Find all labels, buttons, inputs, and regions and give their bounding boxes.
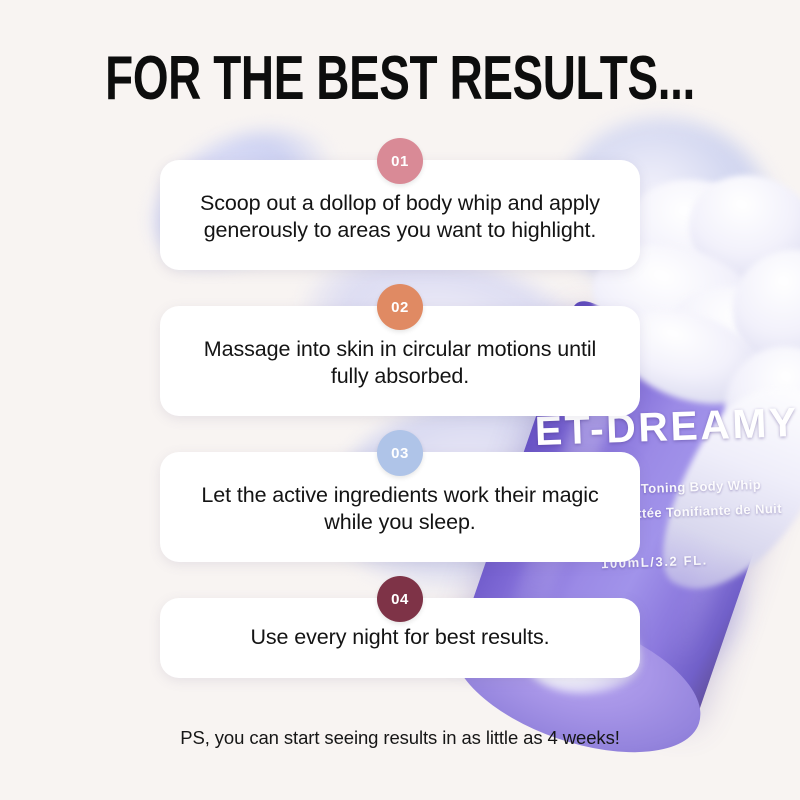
step-item: 02 Massage into skin in circular motions… [160, 306, 640, 416]
step-number-badge-03: 03 [377, 430, 423, 476]
step-item: 04 Use every night for best results. [160, 598, 640, 677]
step-text: Use every night for best results. [250, 624, 549, 651]
step-text: Massage into skin in circular motions un… [186, 336, 614, 390]
footnote-text: PS, you can start seeing results in as l… [0, 727, 800, 749]
page-title: FOR THE BEST RESULTS... [104, 48, 696, 110]
step-item: 01 Scoop out a dollop of body whip and a… [160, 160, 640, 270]
step-number-badge-02: 02 [377, 284, 423, 330]
step-text: Scoop out a dollop of body whip and appl… [186, 190, 614, 244]
step-number-badge-04: 04 [377, 576, 423, 622]
content-layer: FOR THE BEST RESULTS... 01 Scoop out a d… [0, 0, 800, 800]
step-text: Let the active ingredients work their ma… [186, 482, 614, 536]
step-number-badge-01: 01 [377, 138, 423, 184]
steps-list: 01 Scoop out a dollop of body whip and a… [160, 160, 640, 714]
promo-graphic: ET-DREAMY Overnight Toning Body Whip Crè… [0, 0, 800, 800]
step-item: 03 Let the active ingredients work their… [160, 452, 640, 562]
